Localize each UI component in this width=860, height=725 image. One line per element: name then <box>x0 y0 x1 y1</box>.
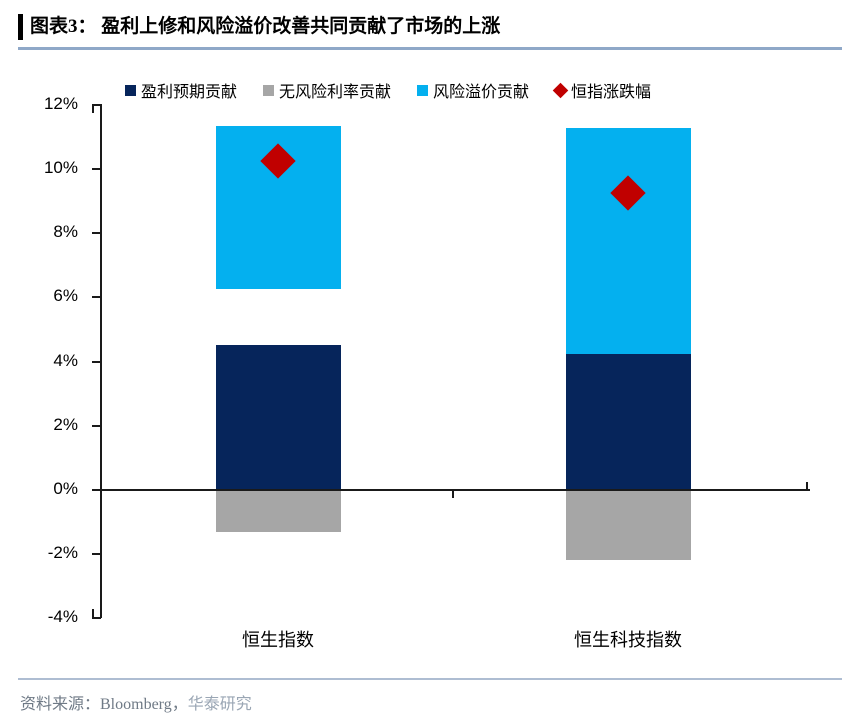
y-tick-label: 12% <box>44 94 78 114</box>
y-tick-label: 4% <box>53 351 78 371</box>
y-tick-label: 0% <box>53 479 78 499</box>
y-tick-neg4: -4% <box>92 617 101 619</box>
y-tick-label: 6% <box>53 286 78 306</box>
source-prefix: 资料来源：Bloomberg， <box>20 696 188 713</box>
plot-area: 12% 10% 8% 6% 4% 2% 0% -2% -4% 恒生指数 <box>100 104 810 618</box>
header-divider <box>18 47 842 50</box>
legend-label: 盈利预期贡献 <box>141 78 237 102</box>
y-tick-6: 6% <box>92 296 101 298</box>
x-axis-right-cap <box>806 482 808 491</box>
footer-divider <box>18 678 842 680</box>
chart-legend: 盈利预期贡献 无风险利率贡献 风险溢价贡献 恒指涨跌幅 <box>125 78 815 102</box>
legend-label: 风险溢价贡献 <box>433 78 529 102</box>
y-tick-0: 0% <box>92 489 101 491</box>
bar-segment-earnings[interactable] <box>216 345 341 489</box>
page-title: 图表3： 盈利上修和风险溢价改善共同贡献了市场的上涨 <box>30 14 500 40</box>
y-tick-12: 12% <box>92 104 101 106</box>
bar-segment-risk-premium[interactable] <box>566 128 691 354</box>
chart-page: 图表3： 盈利上修和风险溢价改善共同贡献了市场的上涨 盈利预期贡献 无风险利率贡… <box>0 0 860 725</box>
y-tick-neg2: -2% <box>92 553 101 555</box>
legend-item-earnings[interactable]: 盈利预期贡献 <box>125 78 237 102</box>
legend-item-index-return[interactable]: 恒指涨跌幅 <box>555 78 651 102</box>
y-tick-8: 8% <box>92 232 101 234</box>
x-axis-label-hstech: 恒生科技指数 <box>574 626 682 652</box>
legend-item-risk-premium[interactable]: 风险溢价贡献 <box>417 78 529 102</box>
y-tick-2: 2% <box>92 425 101 427</box>
legend-label: 无风险利率贡献 <box>279 78 391 102</box>
x-axis-label-hsi: 恒生指数 <box>242 626 314 652</box>
bar-segment-riskfree[interactable] <box>216 491 341 532</box>
header-accent-bar <box>18 14 23 40</box>
source-brand: 华泰研究 <box>188 696 252 713</box>
x-axis-mid-tick <box>452 489 454 498</box>
y-tick-label: 8% <box>53 222 78 242</box>
y-tick-label: 2% <box>53 415 78 435</box>
legend-item-riskfree[interactable]: 无风险利率贡献 <box>263 78 391 102</box>
legend-diamond-icon <box>553 82 569 98</box>
y-tick-label: 10% <box>44 158 78 178</box>
bar-segment-riskfree[interactable] <box>566 491 691 560</box>
y-tick-10: 10% <box>92 168 101 170</box>
y-tick-4: 4% <box>92 361 101 363</box>
legend-square-icon <box>263 85 274 96</box>
y-tick-label: -2% <box>48 543 78 563</box>
legend-square-icon <box>125 85 136 96</box>
x-axis-zero-line <box>100 489 810 491</box>
y-tick-label: -4% <box>48 607 78 627</box>
chart-header: 图表3： 盈利上修和风险溢价改善共同贡献了市场的上涨 <box>18 14 842 50</box>
legend-label: 恒指涨跌幅 <box>571 78 651 102</box>
source-note: 资料来源：Bloomberg，华泰研究 <box>20 690 252 714</box>
bar-segment-earnings[interactable] <box>566 354 691 489</box>
legend-square-icon <box>417 85 428 96</box>
